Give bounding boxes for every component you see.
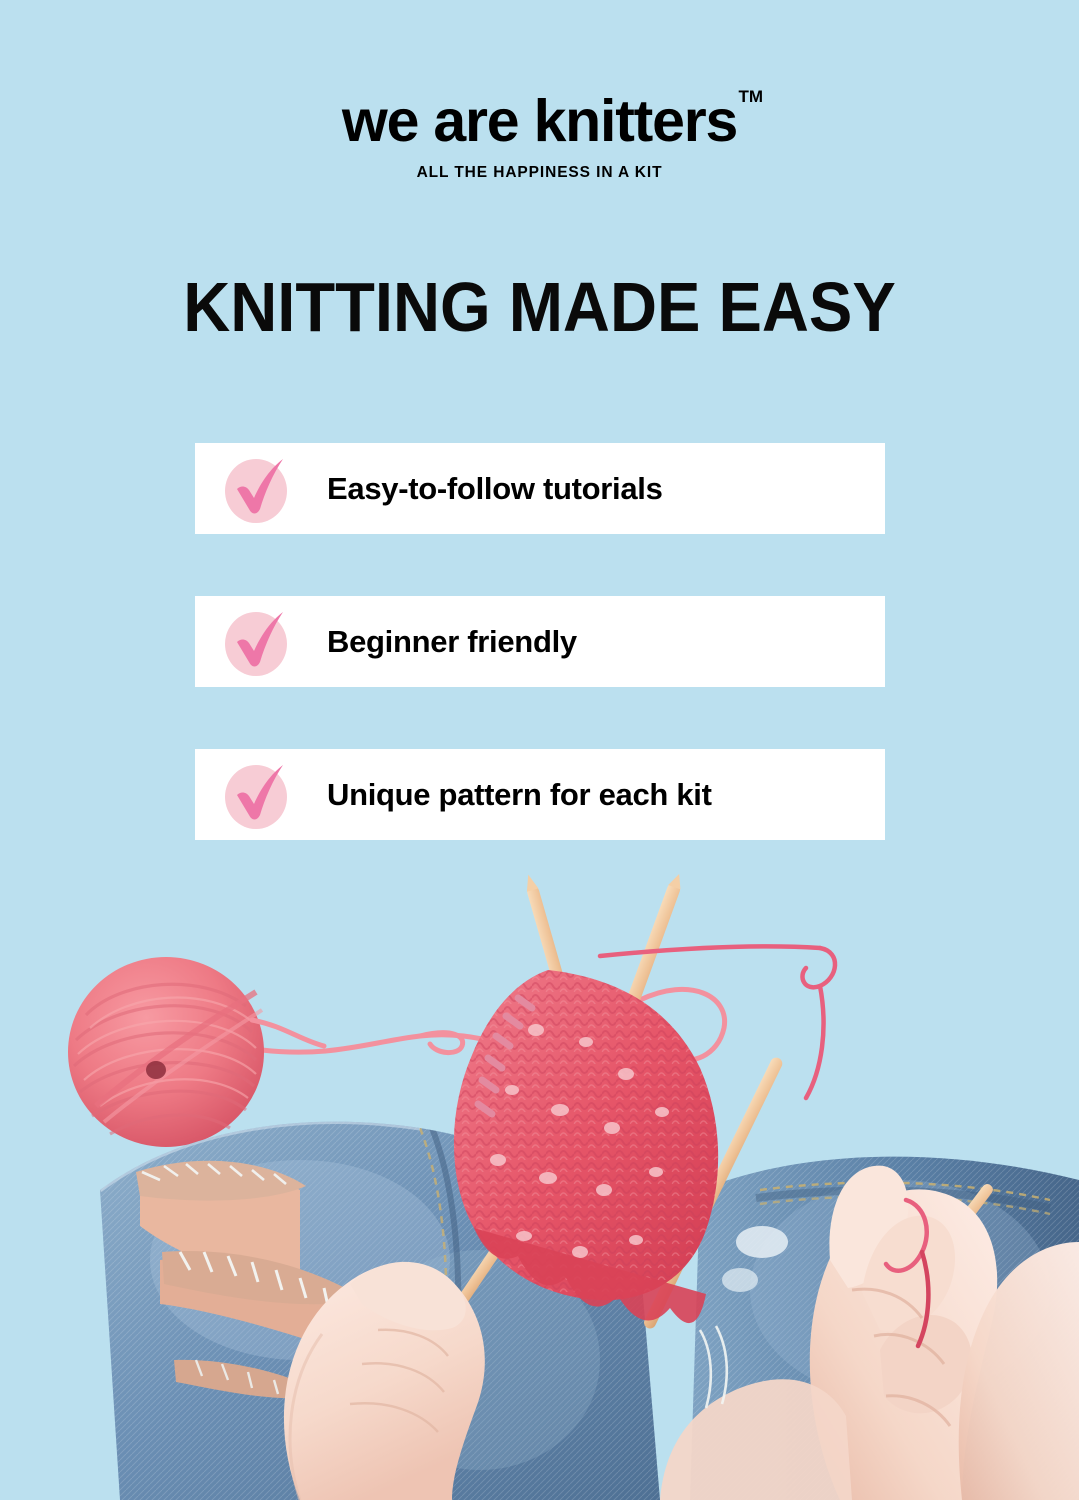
feature-badge[interactable]: Easy-to-follow tutorials (195, 443, 885, 534)
brand-tagline: ALL THE HAPPINESS IN A KIT (0, 164, 1079, 182)
check-mark-glyph (221, 453, 293, 525)
brand-wordmark: we are knittersTM (342, 92, 737, 151)
poster-canvas: we are knittersTM ALL THE HAPPINESS IN A… (0, 0, 1079, 1500)
knitting-photo-illustration (0, 860, 1079, 1500)
feature-badge[interactable]: Beginner friendly (195, 596, 885, 687)
feature-label: Beginner friendly (327, 624, 577, 660)
feature-label: Easy-to-follow tutorials (327, 471, 663, 507)
trademark-icon: TM (739, 88, 764, 105)
brand-logo: we are knittersTM ALL THE HAPPINESS IN A… (0, 92, 1079, 182)
page-title: KNITTING MADE EASY (38, 272, 1041, 342)
feature-list: Easy-to-follow tutorials Beginner friend… (195, 443, 885, 840)
pink-check-icon (221, 759, 293, 831)
feature-badge[interactable]: Unique pattern for each kit (195, 749, 885, 840)
check-mark-glyph (221, 606, 293, 678)
pink-check-icon (221, 453, 293, 525)
pink-check-icon (221, 606, 293, 678)
feature-label: Unique pattern for each kit (327, 777, 712, 813)
check-mark-glyph (221, 759, 293, 831)
knitting-photo (0, 860, 1079, 1500)
brand-wordmark-text: we are knitters (342, 88, 737, 154)
